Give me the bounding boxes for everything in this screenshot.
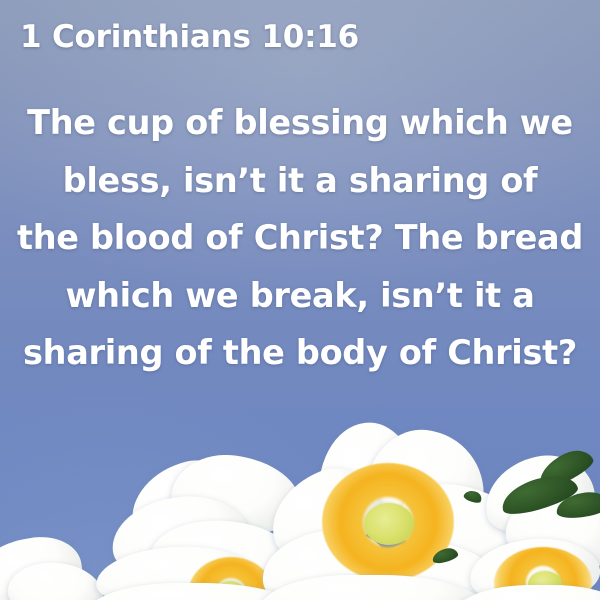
- verse-line-4: which we break, isn’t it a: [14, 267, 586, 325]
- verse-line-1: The cup of blessing which we: [14, 94, 586, 152]
- verse-line-5: sharing of the body of Christ?: [14, 324, 586, 382]
- verse-line-2: bless, isn’t it a sharing of: [14, 152, 586, 210]
- verse-text-block: The cup of blessing which we bless, isn’…: [0, 94, 600, 382]
- verse-image-card: 1 Corinthians 10:16 The cup of blessing …: [0, 0, 600, 600]
- verse-reference: 1 Corinthians 10:16: [20, 19, 359, 55]
- verse-line-3: the blood of Christ? The bread: [14, 209, 586, 267]
